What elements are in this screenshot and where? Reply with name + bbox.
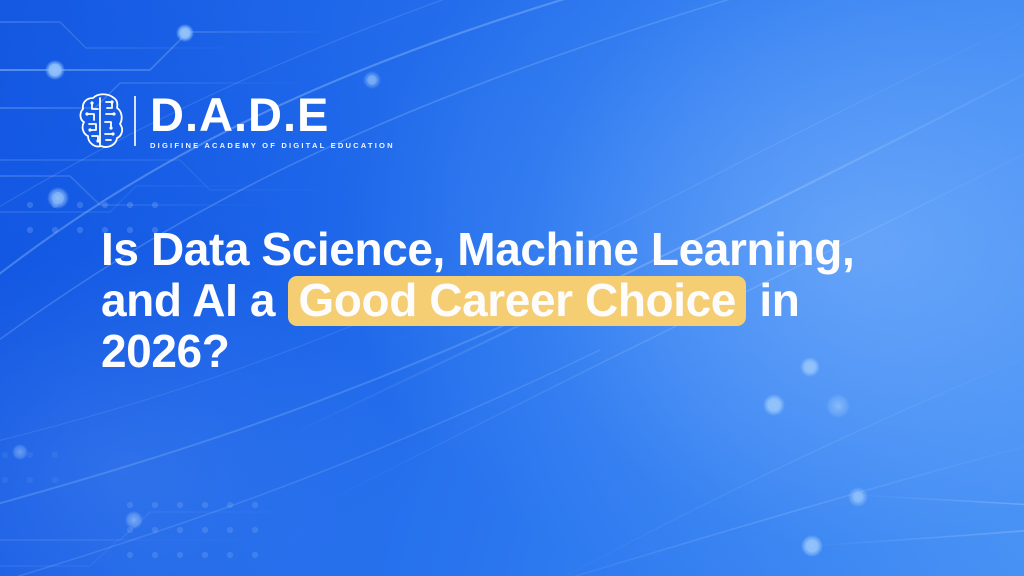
brain-circuit-icon — [78, 90, 124, 152]
headline-line-2-suffix: in — [759, 274, 799, 326]
headline-highlight: Good Career Choice — [288, 276, 746, 326]
banner-canvas: D.A.D.E DIGIFINE ACADEMY OF DIGITAL EDUC… — [0, 0, 1024, 576]
logo-wordmark: D.A.D.E — [150, 92, 395, 137]
page-title: Is Data Science, Machine Learning, and A… — [101, 224, 981, 377]
headline-line-1: Is Data Science, Machine Learning, — [101, 224, 981, 275]
logo-tagline: DIGIFINE ACADEMY OF DIGITAL EDUCATION — [150, 141, 395, 150]
logo-divider — [134, 96, 136, 146]
logo-text-group: D.A.D.E DIGIFINE ACADEMY OF DIGITAL EDUC… — [150, 92, 395, 150]
headline-line-2-prefix: and AI a — [101, 274, 275, 326]
brand-logo[interactable]: D.A.D.E DIGIFINE ACADEMY OF DIGITAL EDUC… — [78, 90, 395, 152]
headline-line-2: and AI a Good Career Choice in — [101, 275, 981, 326]
headline-line-3: 2026? — [101, 326, 981, 377]
